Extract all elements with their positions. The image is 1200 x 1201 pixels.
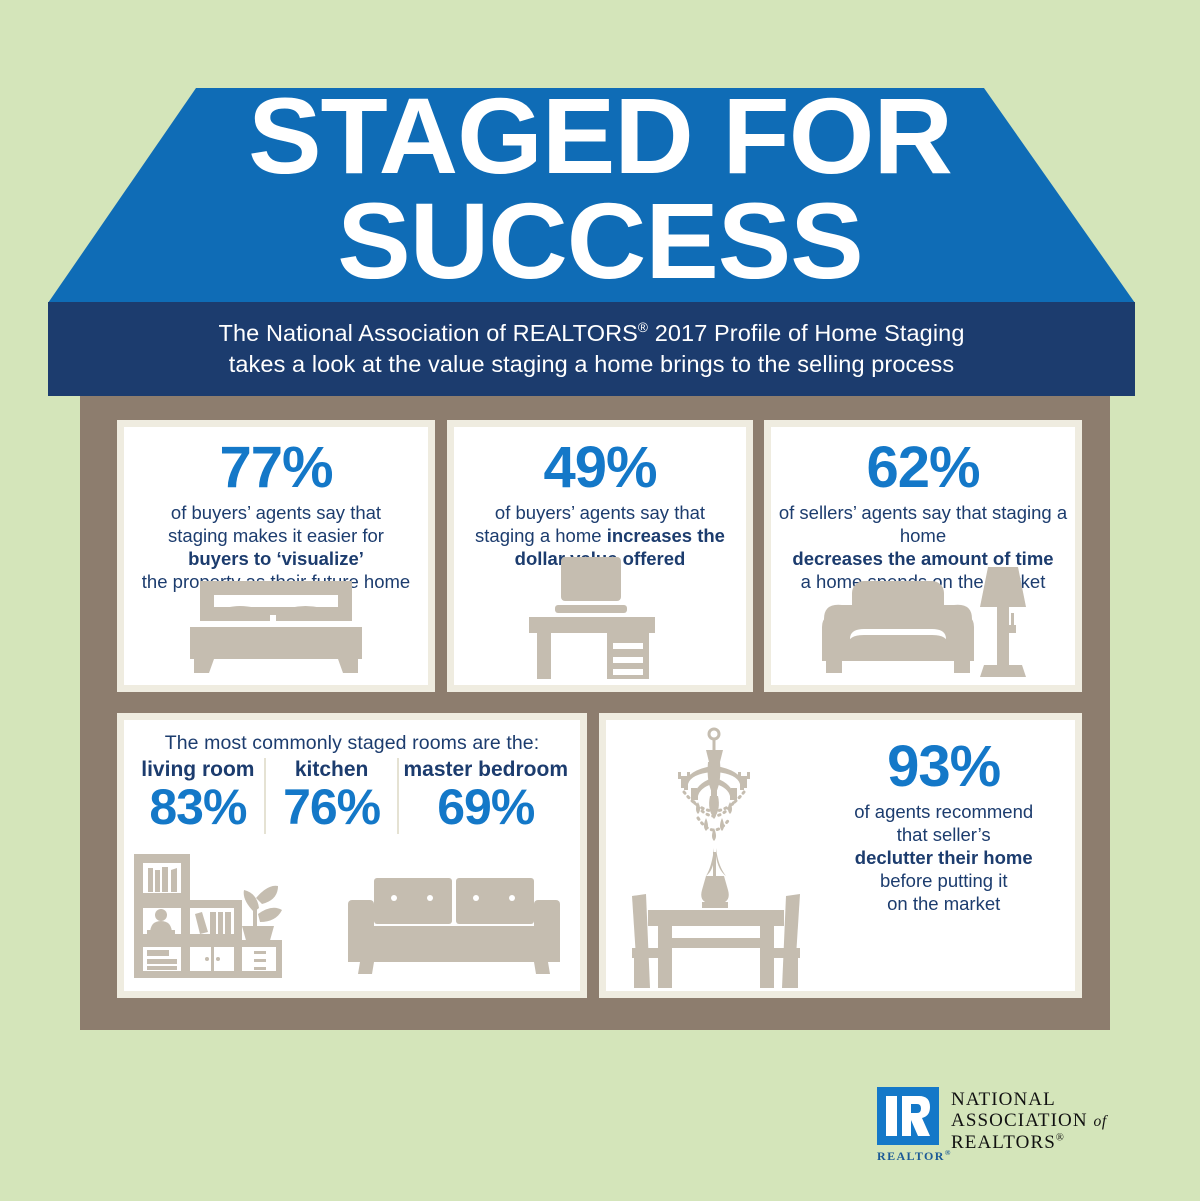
dollar-line-2-pre: staging a home: [475, 525, 607, 546]
room-stat-living-room: living room 83%: [132, 758, 264, 834]
armchair-lamp-icon: [818, 561, 1028, 681]
stat-description-declutter: of agents recommend that seller’s declut…: [826, 801, 1061, 916]
desk-icon-well: [454, 549, 746, 679]
stat-card-dollar-value: 49% of buyers’ agents say that staging a…: [447, 420, 753, 692]
armchair-lamp-icon-well: [771, 561, 1075, 681]
nar-logo-mark: REALTOR®: [877, 1087, 939, 1164]
stat-percent-declutter: 93%: [826, 738, 1061, 796]
declutter-line-5: on the market: [887, 893, 1000, 914]
stat-card-most-staged-rooms-inner: The most commonly staged rooms are the: …: [124, 720, 580, 991]
chandelier-dining-table-icon-well: [606, 720, 826, 991]
stat-card-most-staged-rooms: The most commonly staged rooms are the: …: [117, 713, 587, 998]
room-stat-master-bedroom: master bedroom 69%: [397, 758, 572, 834]
nar-logo-line-1: NATIONAL: [951, 1089, 1107, 1110]
realtor-wordmark-text: REALTOR: [877, 1149, 945, 1163]
room-label-kitchen: kitchen: [270, 758, 394, 781]
room-percent-master-bedroom: 69%: [403, 781, 568, 834]
infographic-canvas: STAGED FOR SUCCESS The National Associat…: [0, 0, 1200, 1201]
desk-icon: [515, 549, 685, 679]
rooms-stat-row: living room 83% kitchen 76% master bedro…: [124, 758, 580, 834]
subtitle-band: The National Association of REALTORS® 20…: [48, 302, 1135, 396]
nar-logo-line-2-text: ASSOCIATION: [951, 1110, 1088, 1131]
stat-percent-time-on-market: 62%: [771, 439, 1075, 497]
nar-logo: REALTOR® NATIONAL ASSOCIATION of REALTOR…: [877, 1087, 1092, 1167]
stat-card-declutter: 93% of agents recommend that seller’s de…: [599, 713, 1082, 998]
nar-logo-line-3: REALTORS®: [951, 1132, 1107, 1153]
rooms-heading: The most commonly staged rooms are the:: [124, 720, 580, 755]
declutter-line-4: before putting it: [880, 870, 1008, 891]
bookshelf-plant-icon-well: [130, 850, 295, 987]
visualize-line-2: staging makes it easier for: [168, 525, 384, 546]
dollar-line-1: of buyers’ agents say that: [495, 502, 705, 523]
realtor-r-icon: [877, 1087, 939, 1145]
title-line-2: SUCCESS: [0, 191, 1200, 290]
nar-logo-line-2: ASSOCIATION of: [951, 1110, 1107, 1131]
registered-mark-icon: ®: [638, 320, 648, 335]
bed-icon-well: [124, 577, 428, 677]
bookshelf-plant-icon: [130, 850, 295, 982]
stat-card-declutter-text: 93% of agents recommend that seller’s de…: [826, 720, 1075, 991]
room-percent-living-room: 83%: [136, 781, 260, 834]
title-line-1: STAGED FOR: [0, 86, 1200, 185]
stat-card-dollar-value-inner: 49% of buyers’ agents say that staging a…: [454, 427, 746, 685]
room-stat-kitchen: kitchen 76%: [264, 758, 398, 834]
stat-percent-dollar-value: 49%: [454, 439, 746, 497]
room-label-master-bedroom: master bedroom: [403, 758, 568, 781]
bed-icon: [176, 577, 376, 677]
visualize-line-3: buyers to ‘visualize’: [188, 548, 364, 569]
realtor-wordmark: REALTOR®: [877, 1148, 939, 1164]
nar-logo-line-3-text: REALTORS: [951, 1132, 1056, 1153]
sofa-icon-well: [346, 864, 574, 985]
dollar-line-2-bold: increases the: [607, 525, 725, 546]
stat-card-time-on-market-inner: 62% of sellers’ agents say that staging …: [771, 427, 1075, 685]
subtitle-line-1-pre: The National Association of REALTORS: [219, 320, 638, 346]
declutter-line-3: declutter their home: [855, 847, 1033, 868]
subtitle-line-2: takes a look at the value staging a home…: [229, 349, 954, 380]
chandelier-dining-table-icon: [628, 726, 828, 991]
visualize-line-1: of buyers’ agents say that: [171, 502, 381, 523]
declutter-layout: 93% of agents recommend that seller’s de…: [606, 720, 1075, 991]
page-title: STAGED FOR SUCCESS: [0, 86, 1200, 291]
realtor-r-glyph: [877, 1087, 939, 1145]
room-label-living-room: living room: [136, 758, 260, 781]
time-line-1: of sellers’ agents say that staging a ho…: [779, 502, 1067, 546]
stat-card-visualize: 77% of buyers’ agents say that staging m…: [117, 420, 435, 692]
stat-card-visualize-text: 77% of buyers’ agents say that staging m…: [124, 427, 428, 594]
stat-card-time-on-market: 62% of sellers’ agents say that staging …: [764, 420, 1082, 692]
nar-logo-line-3-sup: ®: [1056, 1132, 1065, 1143]
subtitle-line-1-post: 2017 Profile of Home Staging: [648, 320, 964, 346]
nar-logo-of: of: [1094, 1113, 1107, 1130]
subtitle-line-1: The National Association of REALTORS® 20…: [219, 318, 965, 349]
sofa-icon: [346, 864, 574, 980]
declutter-line-1: of agents recommend: [854, 801, 1033, 822]
stat-card-visualize-inner: 77% of buyers’ agents say that staging m…: [124, 427, 428, 685]
nar-logo-text: NATIONAL ASSOCIATION of REALTORS®: [951, 1087, 1107, 1153]
stat-percent-visualize: 77%: [124, 439, 428, 497]
declutter-line-2: that seller’s: [897, 824, 991, 845]
stat-card-declutter-inner: 93% of agents recommend that seller’s de…: [606, 720, 1075, 991]
room-percent-kitchen: 76%: [270, 781, 394, 834]
